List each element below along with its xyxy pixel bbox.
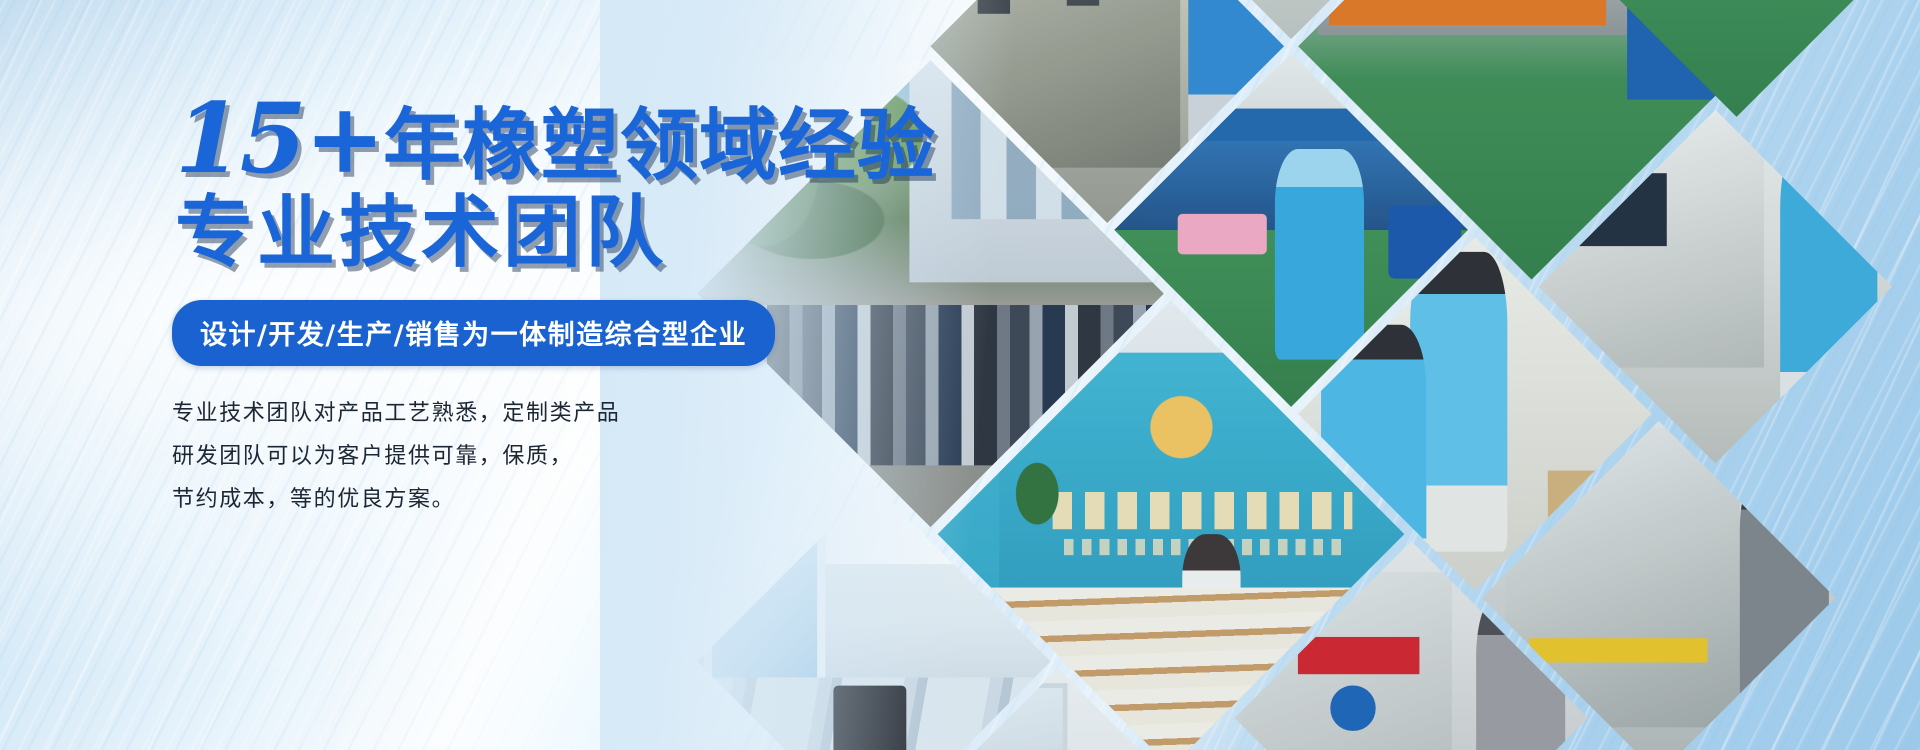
tagline-pill: 设计/开发/生产/销售为一体制造综合型企业 bbox=[172, 300, 775, 366]
description-line-3: 节约成本，等的优良方案。 bbox=[172, 478, 620, 521]
headline-years-number: 15+ bbox=[175, 82, 383, 195]
description-paragraph: 专业技术团队对产品工艺熟悉，定制类产品 研发团队可以为客户提供可靠，保质， 节约… bbox=[172, 392, 620, 521]
description-line-1: 专业技术团队对产品工艺熟悉，定制类产品 bbox=[172, 392, 620, 435]
headline-line-1: 15+年橡塑领域经验 bbox=[175, 98, 936, 187]
banner-text-content: 15+年橡塑领域经验 专业技术团队 设计/开发/生产/销售为一体制造综合型企业 … bbox=[0, 0, 760, 750]
description-line-2: 研发团队可以为客户提供可靠，保质， bbox=[172, 435, 620, 478]
headline-line-1-text: 年橡塑领域经验 bbox=[383, 101, 936, 191]
headline-line-2: 专业技术团队 bbox=[175, 192, 667, 274]
promo-banner: 15+年橡塑领域经验 专业技术团队 设计/开发/生产/销售为一体制造综合型企业 … bbox=[0, 0, 1920, 750]
